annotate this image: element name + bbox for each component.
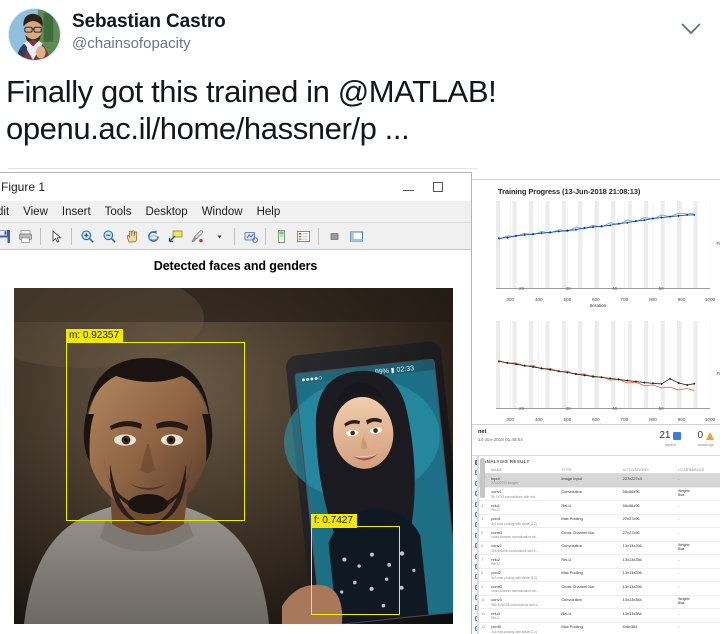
analyzer-stats: 21 layers 0 warnings <box>659 430 714 447</box>
toolbar-separator <box>71 228 72 245</box>
cell-activations: 56x56x96 <box>621 487 677 501</box>
col-learnables: LEARNABLES <box>676 466 720 474</box>
analysis-result-panel: ANALYSIS RESULT NAME TYPE ACTIVATIONS LE… <box>479 456 720 634</box>
table-row[interactable]: 5norm1cross channel normalization wit...… <box>479 528 720 542</box>
x-tick-label: 700 <box>621 297 629 302</box>
x-tick-label: 600 <box>592 297 600 302</box>
minimize-icon <box>403 190 414 191</box>
x-tick-label: 900 <box>678 417 686 422</box>
x-tick-label: 500 <box>563 297 571 302</box>
table-row[interactable]: 3relu1ReLUReLU56x56x96- <box>479 501 720 515</box>
layers-count: 21 <box>659 430 670 441</box>
figure-menubar: dit View Insert Tools Desktop Window Hel… <box>0 201 471 223</box>
x-tick-label: 700 <box>621 417 629 422</box>
accuracy-chart-svg <box>496 201 710 288</box>
warning-triangle-icon <box>706 432 714 440</box>
warnings-stat-label: warnings <box>698 442 714 447</box>
pointer-icon[interactable] <box>45 225 67 247</box>
cell-name: pool23x3 max pooling with stride [2 2] <box>489 568 559 582</box>
right-panel-topbar <box>472 172 720 180</box>
face-label-2: f: 0.7427 <box>311 514 357 528</box>
x-tick-label: 300 <box>506 297 514 302</box>
table-row[interactable]: 11relu3ReLUReLU13x13x384- <box>479 609 720 623</box>
analyzer-header: net 14-Jun-2018 01:48:54 21 layers 0 <box>472 425 720 455</box>
cell-learnables: - <box>676 528 720 542</box>
toolbar-separator <box>265 228 266 245</box>
loss-final-label: Final <box>716 371 720 376</box>
tweet-text-line-1: Finally got this trained in @MATLAB! <box>6 73 706 110</box>
x-tick-label: 400 <box>535 417 543 422</box>
plot-title: Detected faces and genders <box>0 250 471 273</box>
screenshot-root: Sebastian Castro @chainsofopacity Finall… <box>0 0 720 634</box>
face-bbox-2 <box>311 526 400 615</box>
minimize-button[interactable] <box>393 175 423 199</box>
cell-index: 10 <box>479 595 489 609</box>
save-icon[interactable] <box>0 225 14 247</box>
cell-name: pool53x3 max pooling with stride [2 2] <box>489 622 559 634</box>
menu-edit[interactable]: dit <box>0 201 16 223</box>
chevron-down-glyph <box>680 22 702 36</box>
layers-badge-icon <box>673 432 681 440</box>
accuracy-plot-area <box>496 201 710 289</box>
toolbar-separator <box>234 228 235 245</box>
cell-learnables: - <box>676 609 720 623</box>
analyzer-scrollbar-thumb[interactable] <box>480 458 485 498</box>
cell-name: relu1ReLU <box>489 501 559 515</box>
toolbar-separator <box>40 228 41 245</box>
col-type: TYPE <box>559 466 620 474</box>
warnings-count: 0 <box>697 430 703 441</box>
layers-stat-label: layers <box>665 442 676 447</box>
cell-type: Max Pooling <box>559 568 620 582</box>
learnable-line: Bias <box>678 547 718 551</box>
cell-activations: 13x13x256 <box>621 555 677 569</box>
cell-index: 6 <box>479 541 489 555</box>
cell-activations: 6x6x384 <box>621 622 677 634</box>
training-progress-title: Training Progress (13-Jun-2018 21:08:13) <box>472 180 720 198</box>
toolbar-separator <box>318 228 319 245</box>
right-panel: Training Progress (13-Jun-2018 21:08:13)… <box>472 172 720 634</box>
face-label-1: m: 0.92357 <box>66 329 123 343</box>
hide-plot-tools-icon[interactable] <box>323 225 345 247</box>
cell-description: cross channel normalization wit... <box>491 535 557 539</box>
layers-stat: 21 layers <box>659 430 681 447</box>
detected-faces-image: ●●●●○ 99% ▮ 02:33 <box>14 288 453 624</box>
x-tick-label: 400 <box>535 297 543 302</box>
epoch-tick-label: 30 <box>566 286 571 291</box>
insert-colorbar-icon[interactable] <box>270 225 292 247</box>
analysis-result-table: NAME TYPE ACTIVATIONS LEARNABLES 1input2… <box>479 466 720 634</box>
handle: @chainsofopacity <box>72 34 680 54</box>
cell-description: ReLU <box>491 562 557 566</box>
show-plot-tools-icon[interactable] <box>345 225 367 247</box>
table-row[interactable]: 4pool13x3 max pooling with stride [2 2]M… <box>479 514 720 528</box>
cell-activations: 227x227x3 <box>621 474 677 488</box>
epoch-tick-label: 40 <box>612 286 617 291</box>
matlab-figure-window: Figure 1 dit View Insert Tools Desktop W… <box>0 172 472 634</box>
menu-desktop[interactable]: Desktop <box>139 201 195 223</box>
cell-description: cross channel normalization wit... <box>491 589 557 593</box>
cell-learnables: WeightsBias <box>676 541 720 555</box>
figure-title: Figure 1 <box>0 173 45 201</box>
cell-name: conv3384 3x3x256 convolutions with s... <box>489 595 559 609</box>
epoch-tick-label: 40 <box>612 406 617 411</box>
table-header-row: NAME TYPE ACTIVATIONS LEARNABLES <box>479 466 720 474</box>
cell-name: conv196 7x7x3 convolutions with stri... <box>489 487 559 501</box>
cell-description: 384 3x3x256 convolutions with s... <box>491 603 557 607</box>
cell-index: 9 <box>479 582 489 596</box>
cell-type: Cross Channel Nor <box>559 582 620 596</box>
cell-index: 7 <box>479 555 489 569</box>
cell-activations: 56x56x96 <box>621 501 677 515</box>
avatar-image <box>9 9 60 60</box>
tweet-header: Sebastian Castro @chainsofopacity <box>0 0 720 61</box>
cell-learnables: - <box>676 514 720 528</box>
data-cursor-icon[interactable] <box>164 225 186 247</box>
accuracy-final-label: Final <box>716 241 720 246</box>
cell-type: Convolution <box>559 487 620 501</box>
tweet-text: Finally got this trained in @MATLAB! ope… <box>0 61 720 147</box>
cell-activations: 27x27x96 <box>621 528 677 542</box>
analysis-result-title: ANALYSIS RESULT <box>479 456 720 466</box>
cell-activations: 13x13x256 <box>621 541 677 555</box>
cell-description: 3x3 max pooling with stride [2 2] <box>491 576 557 580</box>
figure-titlebar[interactable]: Figure 1 <box>0 173 471 201</box>
cell-name: relu2ReLU <box>489 555 559 569</box>
cell-index: 8 <box>479 568 489 582</box>
table-row[interactable]: 10conv3384 3x3x256 convolutions with s..… <box>479 595 720 609</box>
cell-description: 227x227x3 images <box>491 481 557 485</box>
analyzer-scrollbar[interactable] <box>478 456 479 634</box>
x-tick-label: 600 <box>592 417 600 422</box>
loss-chart-svg <box>496 321 710 408</box>
cell-activations: 13x13x256 <box>621 582 677 596</box>
cell-type: Convolution <box>559 595 620 609</box>
cell-learnables: - <box>676 501 720 515</box>
table-row[interactable]: 9norm2cross channel normalization wit...… <box>479 582 720 596</box>
x-tick-label: 1000 <box>705 297 715 302</box>
cell-index: 12 <box>479 622 489 634</box>
cell-description: ReLU <box>491 616 557 620</box>
x-tick-label: 900 <box>678 297 686 302</box>
learnable-line: Bias <box>678 601 718 605</box>
warnings-stat: 0 warnings <box>697 430 714 447</box>
epoch-tick-label: 50 <box>659 286 664 291</box>
network-analyzer: net 14-Jun-2018 01:48:54 21 layers 0 <box>472 424 720 634</box>
rotate-3d-icon[interactable] <box>142 225 164 247</box>
cell-learnables: - <box>676 622 720 634</box>
cell-activations: 13x13x384 <box>621 595 677 609</box>
cell-name: relu3ReLU <box>489 609 559 623</box>
accuracy-xlabel: Iteration <box>590 303 607 308</box>
cell-type: Image Input <box>559 474 620 488</box>
cell-name: pool13x3 max pooling with stride [2 2] <box>489 514 559 528</box>
print-icon[interactable] <box>14 225 36 247</box>
cell-description: ReLU <box>491 508 557 512</box>
link-plot-icon[interactable] <box>239 225 261 247</box>
zoom-in-icon[interactable] <box>76 225 98 247</box>
display-name: Sebastian Castro <box>72 11 680 33</box>
table-row[interactable]: 6conv2256 5x5x96 convolutions with s...C… <box>479 541 720 555</box>
cell-type: ReLU <box>559 555 620 569</box>
tweet-author-block: Sebastian Castro @chainsofopacity <box>72 8 680 54</box>
epoch-tick-label: 50 <box>659 406 664 411</box>
figure-canvas: Detected faces and genders <box>0 250 471 634</box>
loss-plot-area <box>496 321 710 409</box>
menu-help[interactable]: Help <box>250 201 288 223</box>
cell-index: 3 <box>479 501 489 515</box>
loss-chart: 3004005006007008009001000 20304050 Itera… <box>482 319 714 425</box>
brush-dropdown-icon[interactable] <box>208 225 230 247</box>
brush-icon[interactable] <box>186 225 208 247</box>
x-tick-label: 800 <box>649 417 657 422</box>
epoch-tick-label: 20 <box>519 406 524 411</box>
cell-description: 96 7x7x3 convolutions with stri... <box>491 495 557 499</box>
cell-learnables: WeightsBias <box>676 487 720 501</box>
cell-learnables: WeightsBias <box>676 595 720 609</box>
cell-learnables: - <box>676 555 720 569</box>
training-progress-window: Training Progress (13-Jun-2018 21:08:13)… <box>472 180 720 424</box>
cell-type: Convolution <box>559 541 620 555</box>
cell-type: Max Pooling <box>559 622 620 634</box>
tweet-text-line-2[interactable]: openu.ac.il/home/hassner/p ... <box>6 110 706 147</box>
cell-description: 256 5x5x96 convolutions with s... <box>491 549 557 553</box>
table-row[interactable]: 12pool53x3 max pooling with stride [2 2]… <box>479 622 720 634</box>
figure-toolbar <box>0 223 471 250</box>
divider <box>8 168 478 169</box>
window-controls <box>393 173 453 201</box>
zoom-out-icon[interactable] <box>98 225 120 247</box>
cell-activations: 27x27x96 <box>621 514 677 528</box>
cell-activations: 13x13x384 <box>621 609 677 623</box>
table-row[interactable]: 7relu2ReLUReLU13x13x256- <box>479 555 720 569</box>
menu-insert[interactable]: Insert <box>55 201 98 223</box>
cell-name: norm2cross channel normalization wit... <box>489 582 559 596</box>
cell-index: 11 <box>479 609 489 623</box>
avatar[interactable] <box>8 8 61 61</box>
cell-type: ReLU <box>559 501 620 515</box>
col-name: NAME <box>489 466 559 474</box>
x-tick-label: 300 <box>506 417 514 422</box>
table-row[interactable]: 2conv196 7x7x3 convolutions with stri...… <box>479 487 720 501</box>
cell-description: 3x3 max pooling with stride [2 2] <box>491 630 557 634</box>
cell-name: input227x227x3 images <box>489 474 559 488</box>
cell-index: 5 <box>479 528 489 542</box>
cell-description: 3x3 max pooling with stride [2 2] <box>491 522 557 526</box>
cell-type: Cross Channel Nor <box>559 528 620 542</box>
learnable-line: Bias <box>678 493 718 497</box>
cell-learnables: - <box>676 474 720 488</box>
cell-learnables: - <box>676 568 720 582</box>
table-row[interactable]: 8pool23x3 max pooling with stride [2 2]M… <box>479 568 720 582</box>
cell-type: ReLU <box>559 609 620 623</box>
insert-legend-icon[interactable] <box>292 225 314 247</box>
x-tick-label: 1000 <box>705 417 715 422</box>
cell-name: conv2256 5x5x96 convolutions with s... <box>489 541 559 555</box>
table-row[interactable]: 1input227x227x3 imagesImage Input227x227… <box>479 474 720 488</box>
cell-type: Max Pooling <box>559 514 620 528</box>
tweet-card: Sebastian Castro @chainsofopacity Finall… <box>0 0 720 172</box>
x-tick-label: 800 <box>649 297 657 302</box>
maximize-icon <box>433 182 443 192</box>
cell-learnables: - <box>676 582 720 596</box>
chevron-down-icon[interactable] <box>680 8 710 41</box>
menu-view[interactable]: View <box>16 201 55 223</box>
x-tick-label: 500 <box>563 417 571 422</box>
menu-window[interactable]: Window <box>195 201 250 223</box>
col-activations: ACTIVATIONS <box>621 466 677 474</box>
cell-activations: 13x13x256 <box>621 568 677 582</box>
epoch-tick-label: 20 <box>519 286 524 291</box>
analyzer-body: inputconv1relu1pool1norm1conv2relu2pool2… <box>472 455 720 634</box>
cell-index: 4 <box>479 514 489 528</box>
face-bbox-1 <box>66 342 245 521</box>
epoch-tick-label: 30 <box>566 406 571 411</box>
maximize-button[interactable] <box>423 175 453 199</box>
menu-tools[interactable]: Tools <box>98 201 139 223</box>
accuracy-chart: 3004005006007008009001000 20304050 Itera… <box>482 199 714 305</box>
cell-name: norm1cross channel normalization wit... <box>489 528 559 542</box>
pan-icon[interactable] <box>120 225 142 247</box>
